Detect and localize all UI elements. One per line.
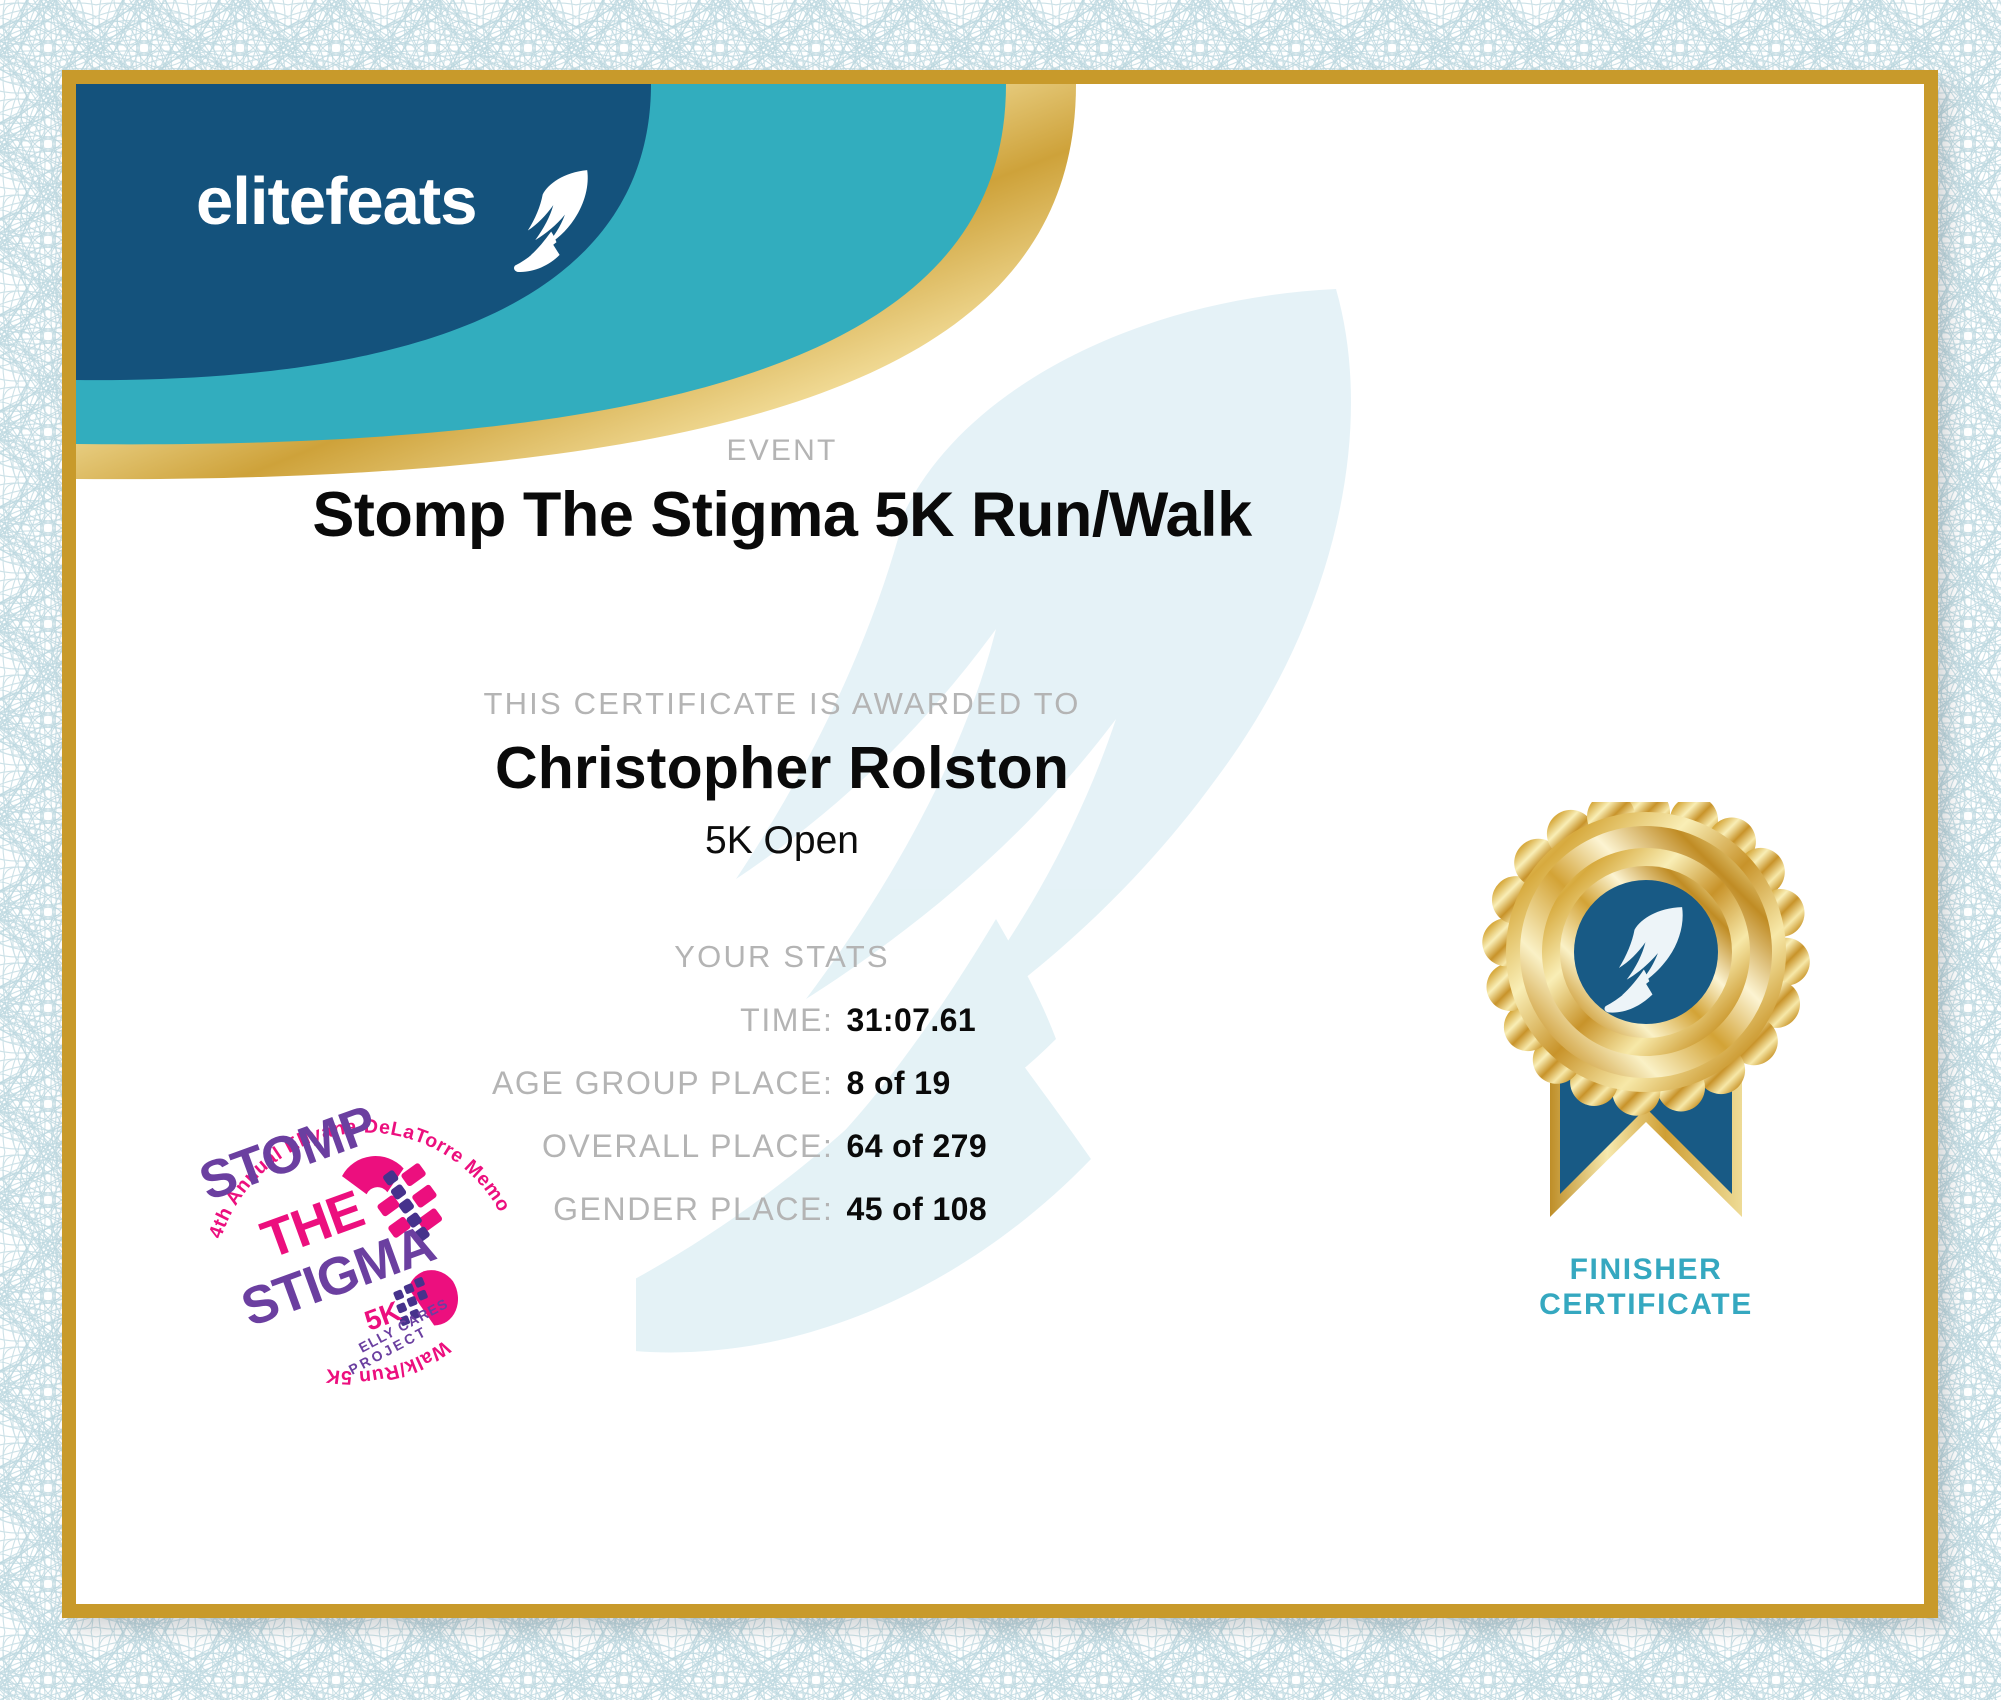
- certificate-content: EVENT Stomp The Stigma 5K Run/Walk THIS …: [76, 84, 1924, 1604]
- stat-value-gender-place: 45 of 108: [834, 1191, 1254, 1228]
- stat-value-overall-place: 64 of 279: [834, 1128, 1254, 1165]
- event-name: Stomp The Stigma 5K Run/Walk: [76, 479, 1488, 551]
- certificate-frame: elitefeats: [62, 70, 1938, 1618]
- stat-label-time: TIME:: [311, 1002, 834, 1039]
- finisher-certificate-caption: FINISHER CERTIFICATE: [1469, 1252, 1823, 1323]
- finisher-caption-line2: CERTIFICATE: [1469, 1287, 1823, 1322]
- certificate-page: elitefeats: [0, 0, 2001, 1700]
- stat-value-time: 31:07.61: [834, 1002, 1254, 1039]
- certificate-body: elitefeats: [76, 84, 1924, 1604]
- stomp-the-stigma-event-logo: 4th Annual Ellyana DeLaTorre Memorial Wa…: [184, 1069, 534, 1419]
- event-label: EVENT: [76, 434, 1488, 468]
- division-name: 5K Open: [76, 819, 1488, 863]
- finisher-medal-badge: 2025: [1476, 802, 1816, 1252]
- awarded-to-label: THIS CERTIFICATE IS AWARDED TO: [76, 686, 1488, 722]
- recipient-name: Christopher Rolston: [76, 734, 1488, 802]
- medal-scallop-ring: [1482, 802, 1810, 1116]
- stat-value-age-group-place: 8 of 19: [834, 1065, 1254, 1102]
- stat-row-time: TIME: 31:07.61: [76, 1002, 1488, 1053]
- your-stats-label: YOUR STATS: [76, 939, 1488, 975]
- finisher-caption-line1: FINISHER: [1469, 1252, 1823, 1287]
